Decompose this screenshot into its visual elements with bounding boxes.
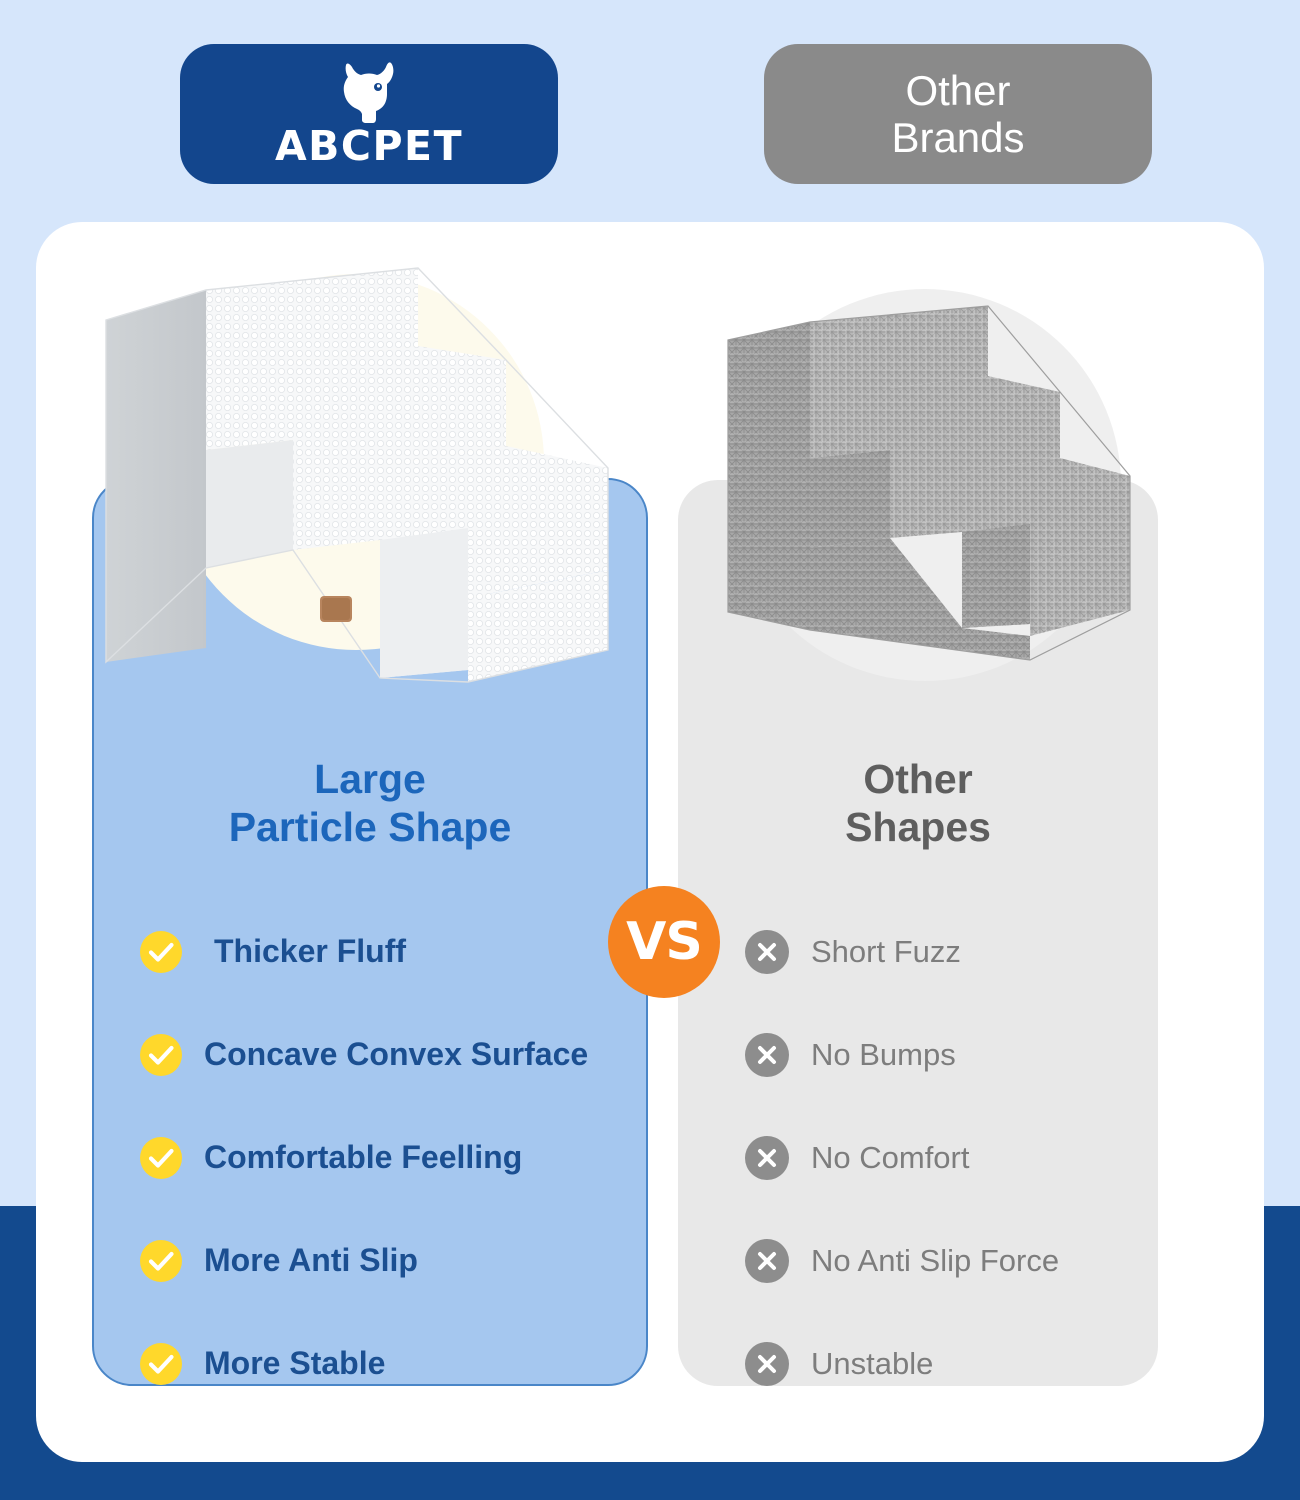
list-item-label: No Bumps [811, 1036, 956, 1073]
list-item: No Bumps [745, 1003, 1165, 1106]
list-item: No Comfort [745, 1106, 1165, 1209]
list-item-label: More Anti Slip [204, 1241, 418, 1279]
right-panel-title-line1: Other [678, 756, 1158, 804]
versus-badge: VS [608, 886, 720, 998]
check-icon [140, 1240, 182, 1282]
list-item: Unstable [745, 1312, 1165, 1415]
list-item: No Anti Slip Force [745, 1209, 1165, 1312]
check-icon [140, 1343, 182, 1385]
list-item-label: Unstable [811, 1345, 933, 1382]
right-panel-title: Other Shapes [678, 756, 1158, 851]
cross-icon [745, 1239, 789, 1283]
left-panel-title: Large Particle Shape [92, 756, 648, 851]
list-item-label: Short Fuzz [811, 933, 961, 970]
left-feature-list: Thicker Fluff Concave Convex Surface Com… [140, 900, 640, 1415]
list-item-label: Comfortable Feelling [204, 1138, 522, 1176]
right-product-image [700, 280, 1150, 690]
list-item-label: No Anti Slip Force [811, 1242, 1059, 1279]
header-row: ABCPET Other Brands [0, 44, 1300, 192]
list-item: More Anti Slip [140, 1209, 640, 1312]
competitor-badge: Other Brands [764, 44, 1152, 184]
versus-label: VS [626, 912, 702, 972]
cross-icon [745, 1136, 789, 1180]
right-feature-list: Short Fuzz No Bumps No Comfort No Anti S… [745, 900, 1165, 1415]
left-panel-title-line2: Particle Shape [92, 804, 648, 852]
cross-icon [745, 930, 789, 974]
list-item: Comfortable Feelling [140, 1106, 640, 1209]
check-icon [140, 931, 182, 973]
cross-icon [745, 1033, 789, 1077]
list-item: Thicker Fluff [140, 900, 640, 1003]
dog-head-icon [326, 62, 412, 124]
left-product-image [88, 250, 628, 720]
list-item: Short Fuzz [745, 900, 1165, 1003]
list-item-label: No Comfort [811, 1139, 969, 1176]
brand-badge: ABCPET [180, 44, 558, 184]
list-item: Concave Convex Surface [140, 1003, 640, 1106]
left-panel-title-line1: Large [92, 756, 648, 804]
check-icon [140, 1137, 182, 1179]
brand-wordmark: ABCPET [275, 126, 463, 167]
right-panel-title-line2: Shapes [678, 804, 1158, 852]
check-icon [140, 1034, 182, 1076]
list-item-label: Thicker Fluff [204, 932, 406, 970]
cross-icon [745, 1342, 789, 1386]
competitor-badge-line1: Other [905, 67, 1010, 114]
list-item-label: More Stable [204, 1344, 385, 1382]
list-item: More Stable [140, 1312, 640, 1415]
competitor-badge-line2: Brands [891, 114, 1024, 161]
list-item-label: Concave Convex Surface [204, 1035, 588, 1073]
